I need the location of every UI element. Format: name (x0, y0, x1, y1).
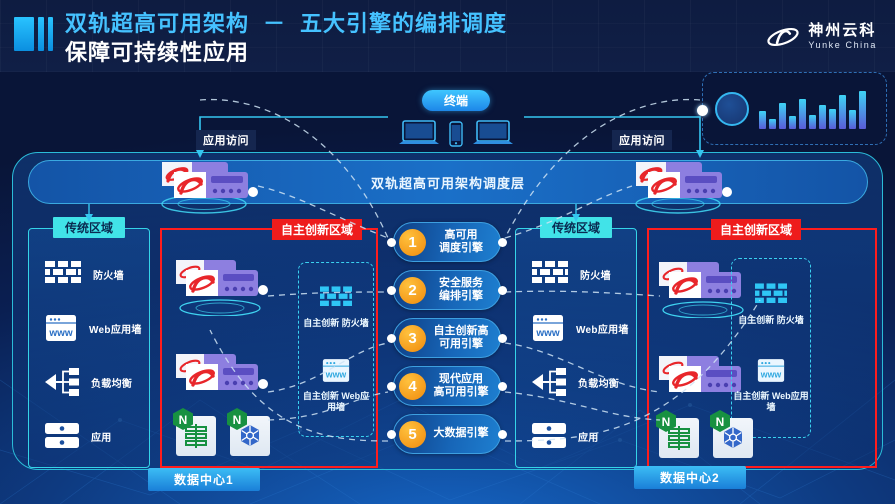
zone-item-label: 应用 (91, 429, 112, 444)
logo-swirl-icon (766, 22, 800, 52)
server-stack-icon (45, 423, 79, 449)
logo-name-cn: 神州云科 (808, 23, 877, 39)
nginx-hex-icon: N (227, 408, 247, 430)
stats-connector-dot (697, 105, 708, 116)
title-accent-bars-icon (14, 17, 53, 51)
scheduling-layer-label: 双轨超高可用架构调度层 (371, 173, 525, 192)
engine-number: 1 (399, 229, 426, 256)
svg-text:www: www (48, 328, 73, 339)
zone-item-label: Web应用墙 (576, 321, 629, 336)
engine-number: 4 (399, 373, 426, 400)
kubernetes-icon: N (230, 416, 270, 456)
traditional-zone-title-dc2: 传统区域 (540, 217, 612, 238)
title-part-1: 双轨超高可用架构 (65, 11, 249, 36)
engine-item-1[interactable]: 1 高可用 调度引擎 (393, 222, 501, 262)
web-window-icon: www (45, 314, 77, 342)
zone-item: 防火墙 (29, 247, 149, 301)
brand-logo: 神州云科 Yunke China (766, 22, 877, 52)
engine-right-dot (498, 334, 507, 343)
phone-icon (449, 121, 463, 147)
svg-text:N: N (233, 413, 242, 427)
title-dash: － (249, 11, 300, 36)
innovation-zone-title-dc1: 自主创新区域 (272, 219, 362, 240)
nginx-hex-icon: N (710, 410, 730, 432)
scheduler-appliance-right (630, 156, 734, 219)
bar-chart-icon (759, 89, 866, 129)
zone-item: 应用 (516, 409, 636, 463)
load-balancer-icon (45, 367, 79, 397)
nginx-hex-icon: N (656, 410, 676, 432)
engine-list: 1 高可用 调度引擎 2 安全服务 编排引擎 3 自主创新高 可用引擎 4 现代… (393, 222, 501, 462)
zone-item: 负载均衡 (516, 355, 636, 409)
svg-text:www: www (325, 369, 347, 379)
server-stack-icon (532, 423, 566, 449)
traditional-zone-title-dc1: 传统区域 (53, 217, 125, 238)
innovation-stack-dc1: N N (176, 416, 270, 456)
datacenter-label-2: 数据中心2 (634, 466, 746, 489)
zone-item: 应用 (29, 409, 149, 463)
engine-number: 3 (399, 325, 426, 352)
engine-item-2[interactable]: 2 安全服务 编排引擎 (393, 270, 501, 310)
engine-label: 安全服务 编排引擎 (426, 277, 500, 303)
engine-left-dot (387, 286, 396, 295)
engine-right-dot (498, 430, 507, 439)
svg-text:N: N (179, 413, 188, 427)
engine-right-dot (498, 382, 507, 391)
traditional-zone-dc1: 传统区域 防火墙 www Web应用墙 (28, 228, 150, 468)
zone-item-label: 防火墙 (93, 267, 124, 282)
web-window-icon: www (532, 314, 564, 342)
terminal-label: 终端 (422, 90, 490, 111)
engine-left-dot (387, 382, 396, 391)
innovation-zone-dc2: 自主创新区域 (647, 228, 877, 468)
engine-left-dot (387, 334, 396, 343)
web-window-icon: www (757, 358, 785, 383)
engine-item-3[interactable]: 3 自主创新高 可用引擎 (393, 318, 501, 358)
innovation-zone-title-dc2: 自主创新区域 (711, 219, 801, 240)
nginx-hex-icon: N (173, 408, 193, 430)
innovation-security-box-dc2: 自主创新 防火墙 www 自主创新 Web应用墙 (731, 258, 811, 438)
traditional-zone-dc2: 传统区域 防火墙 www Web应用墙 (515, 228, 637, 468)
zone-item: www Web应用墙 (516, 301, 636, 355)
donut-chart-icon (715, 92, 749, 126)
stats-decoration-panel (702, 72, 887, 145)
logo-name-en: Yunke China (808, 41, 877, 50)
innovation-firewall-label-dc1: 自主创新 防火墙 (303, 318, 369, 329)
page-title: 双轨超高可用架构－五大引擎的编排调度 保障可持续性应用 (14, 12, 507, 65)
engine-number: 2 (399, 277, 426, 304)
engine-right-dot (498, 238, 507, 247)
load-balancer-icon (532, 367, 566, 397)
engine-label: 现代应用 高可用引擎 (426, 373, 500, 399)
web-window-icon: www (322, 358, 350, 383)
zone-item-label: 应用 (578, 429, 599, 444)
engine-number: 5 (399, 421, 426, 448)
zone-item: 防火墙 (516, 247, 636, 301)
innovation-security-box-dc1: 自主创新 防火墙 www 自主创新 Web应用墙 (298, 262, 374, 437)
title-line-1: 双轨超高可用架构－五大引擎的编排调度 (65, 12, 507, 37)
nginx-icon: N (176, 416, 216, 456)
zone-item-label: 负载均衡 (91, 375, 132, 390)
datacenter-label-1: 数据中心1 (148, 468, 260, 491)
zone-item: www Web应用墙 (29, 301, 149, 355)
engine-label: 高可用 调度引擎 (426, 229, 500, 255)
engine-left-dot (387, 430, 396, 439)
engine-right-dot (498, 286, 507, 295)
firewall-brick-icon (755, 283, 787, 307)
access-label-left: 应用访问 (196, 130, 256, 150)
engine-label: 大数据引擎 (426, 427, 500, 440)
kubernetes-icon: N (713, 418, 753, 458)
svg-text:N: N (662, 415, 671, 429)
svg-text:www: www (760, 369, 782, 379)
firewall-brick-icon (532, 261, 568, 287)
laptop-icon (472, 119, 514, 147)
innovation-appliance-top-dc1 (172, 256, 276, 321)
title-part-2: 五大引擎的编排调度 (300, 11, 507, 36)
innovation-appliance-bottom-dc1 (172, 352, 276, 405)
zone-item-label: 负载均衡 (578, 375, 619, 390)
firewall-brick-icon (320, 286, 352, 310)
scheduling-layer-bar: 双轨超高可用架构调度层 (28, 160, 868, 204)
nginx-icon: N (659, 418, 699, 458)
svg-text:N: N (716, 415, 725, 429)
innovation-waf-label-dc1: 自主创新 Web应用墙 (299, 391, 373, 414)
scheduler-appliance-left (156, 156, 260, 219)
svg-text:www: www (535, 328, 560, 339)
engine-left-dot (387, 238, 396, 247)
access-label-right: 应用访问 (612, 130, 672, 150)
innovation-waf-label-dc2: 自主创新 Web应用墙 (732, 391, 810, 414)
firewall-brick-icon (45, 261, 81, 287)
zone-item: 负载均衡 (29, 355, 149, 409)
zone-item-label: Web应用墙 (89, 321, 142, 336)
innovation-zone-dc1: 自主创新区域 (160, 228, 378, 468)
engine-item-4[interactable]: 4 现代应用 高可用引擎 (393, 366, 501, 406)
engine-label: 自主创新高 可用引擎 (426, 325, 500, 351)
title-line-2: 保障可持续性应用 (65, 41, 507, 66)
innovation-firewall-label-dc2: 自主创新 防火墙 (738, 315, 804, 326)
innovation-stack-dc2: N N (659, 418, 753, 458)
laptop-icon (398, 119, 440, 147)
zone-item-label: 防火墙 (580, 267, 611, 282)
engine-item-5[interactable]: 5 大数据引擎 (393, 414, 501, 454)
terminal-group: 终端 (392, 90, 520, 147)
